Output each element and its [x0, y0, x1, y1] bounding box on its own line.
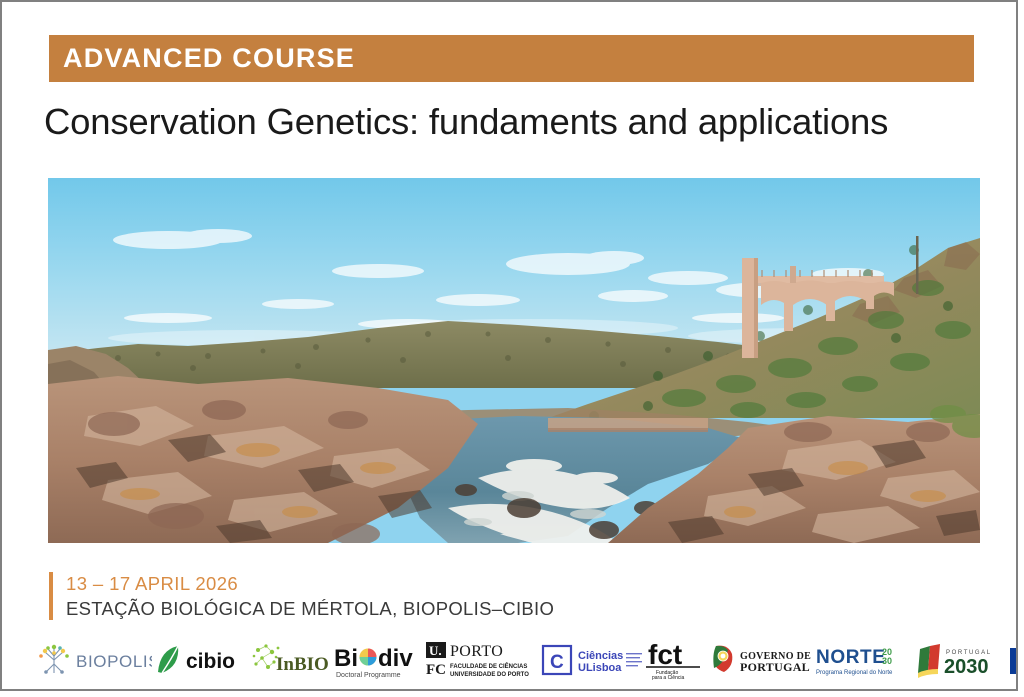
advanced-course-banner: ADVANCED COURSE: [49, 35, 974, 82]
eu-flag-icon: [1010, 648, 1018, 674]
logo-ciencias-badge: C: [550, 652, 564, 673]
logo-cibio: cibio: [152, 637, 250, 683]
landscape-photo-artwork: [48, 178, 980, 543]
colored-sphere-icon: [360, 649, 377, 666]
logo-fct: fct Fundação para a Ciência: [644, 637, 710, 683]
logo-ciencias-line2: ULisboa: [578, 662, 622, 674]
portugal-shield-icon: [713, 646, 732, 672]
logo-cibio-wordmark: cibio: [186, 650, 235, 673]
event-venue: ESTAÇÃO BIOLÓGICA DE MÉRTOLA, BIOPOLIS–C…: [66, 596, 554, 621]
logo-uporto-line1: FACULDADE DE CIÊNCIAS: [450, 662, 527, 670]
poster-canvas: ADVANCED COURSE Conservation Genetics: f…: [0, 0, 1018, 691]
logo-ciencias-microtext: [626, 653, 642, 666]
logo-norte-subtitle: Programa Regional do Norte: [816, 670, 893, 676]
logo-portugal-2030: PORTUGAL 2030: [914, 637, 1008, 683]
logo-norte-year-bottom: 30: [882, 656, 892, 666]
svg-text:FC: FC: [426, 662, 446, 678]
logo-uporto-line2: UNIVERSIDADE DO PORTO: [450, 672, 529, 678]
logo-biodiv-wordmark: Bi: [334, 645, 358, 672]
logo-eu-cofinanced: Cofinanciado pela União Europeia: [1008, 637, 1018, 683]
event-details: 13 – 17 APRIL 2026 ESTAÇÃO BIOLÓGICA DE …: [49, 572, 554, 620]
logo-fct-wordmark: fct: [648, 639, 682, 670]
logo-inbio: InBIO: [250, 637, 332, 683]
logo-biodiv-subtitle: Doctoral Programme: [336, 672, 401, 679]
logo-uporto-wordmark2: PORTO: [450, 643, 503, 660]
logo-inbio-wordmark: InBIO: [276, 654, 329, 675]
sponsor-logos: BIOPOLIS cibio: [34, 635, 992, 685]
logo-biopolis: BIOPOLIS: [34, 637, 152, 683]
logo-ciencias-ulisboa: C Ciências ULisboa: [540, 637, 644, 683]
banner-label: ADVANCED COURSE: [49, 45, 355, 72]
logo-biodiv-wordmark2: div: [378, 645, 413, 672]
event-date: 13 – 17 APRIL 2026: [66, 572, 554, 596]
logo-norte-2030: NORTE 20 30 Programa Regional do Norte: [814, 637, 914, 683]
logo-fct-line2: para a Ciência: [652, 675, 684, 681]
logo-uporto: U. PORTO FC FACULDADE DE CIÊNCIAS UNIVER…: [424, 637, 540, 683]
portugal-flag-ribbon-icon: [918, 644, 940, 678]
logo-portugal2030-wordmark: 2030: [944, 656, 989, 678]
landscape-photo: [48, 178, 980, 543]
fc-badge: FC: [426, 662, 446, 678]
logo-governo-line2: PORTUGAL: [740, 660, 810, 674]
leaf-icon: [158, 646, 178, 673]
logo-governo-portugal: GOVERNO DE PORTUGAL: [710, 637, 814, 683]
logo-norte-wordmark: NORTE: [816, 647, 886, 668]
logo-biopolis-wordmark: BIOPOLIS: [76, 652, 152, 671]
page-title: Conservation Genetics: fundaments and ap…: [44, 101, 984, 143]
logo-biodiv: Bi div Doctoral Programme: [332, 637, 424, 683]
logo-uporto-wordmark: U.: [429, 643, 442, 658]
logo-ciencias-line1: Ciências: [578, 650, 623, 662]
